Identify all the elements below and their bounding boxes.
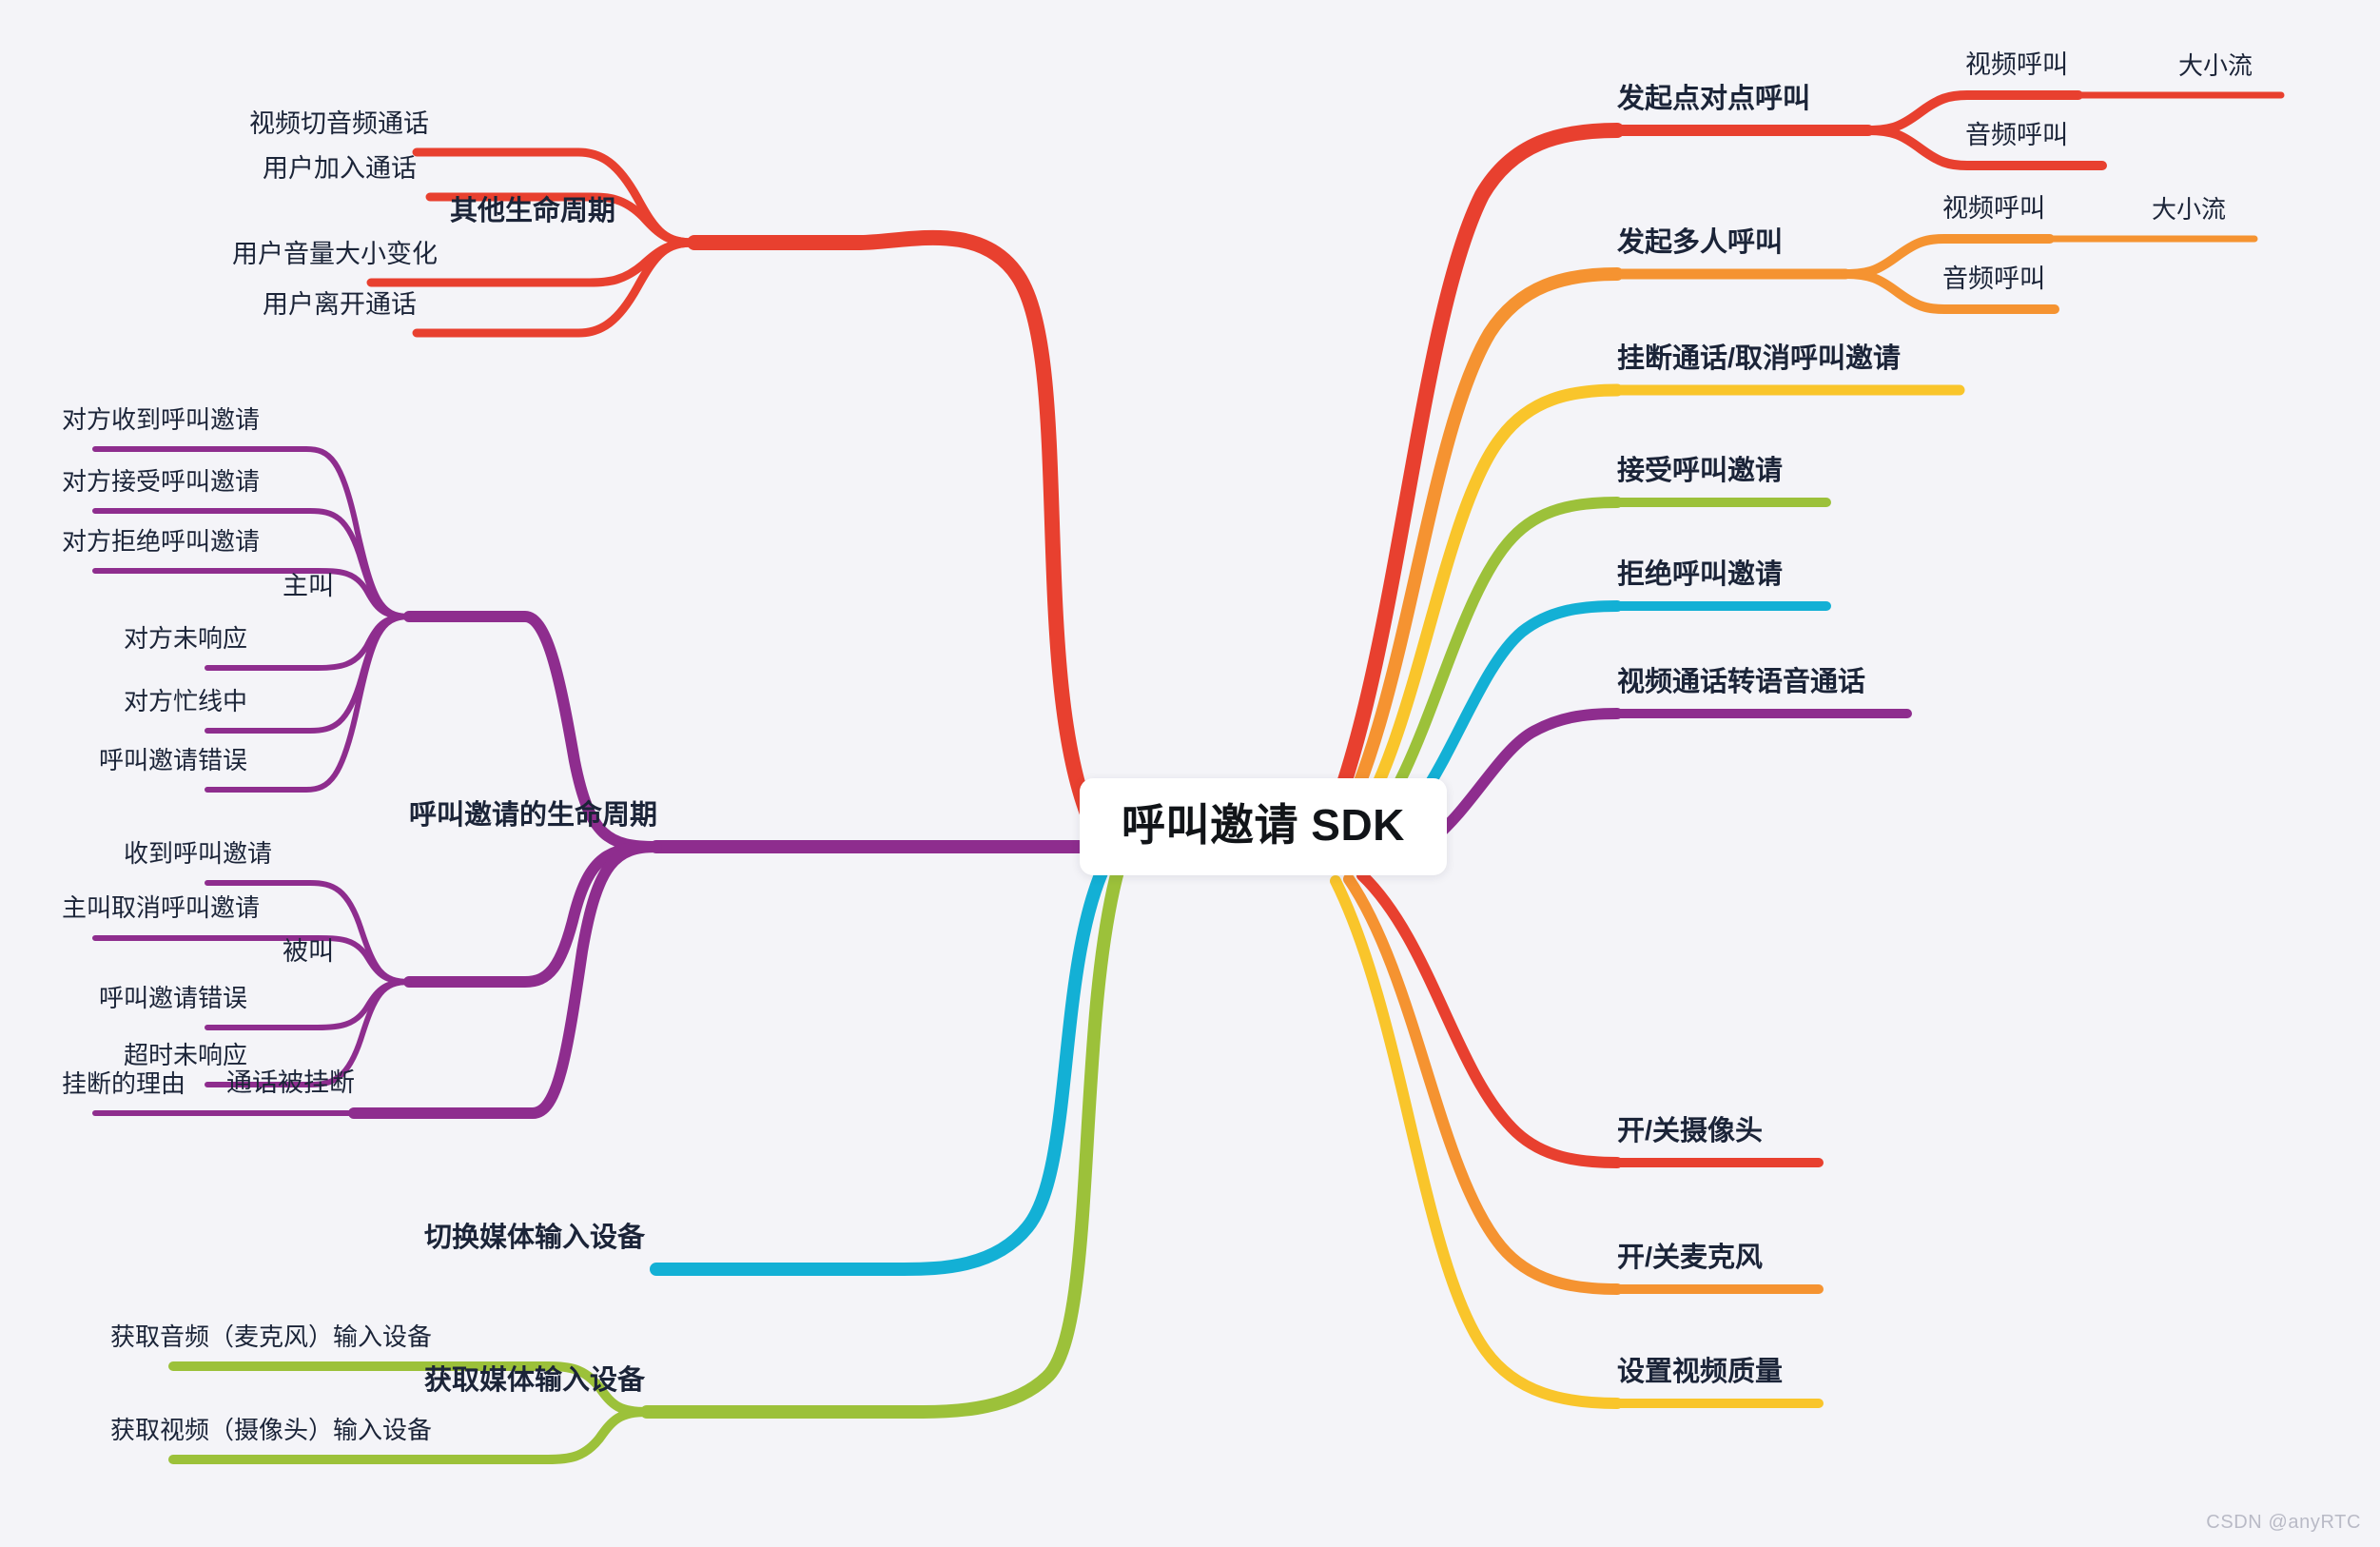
mindmap-connectors [0, 0, 2380, 1547]
node-video-to-voice[interactable]: 视频通话转语音通话 [1617, 669, 1865, 696]
link-caller-to-peer-rejected [95, 571, 409, 617]
node-peer-accepted-invite[interactable]: 对方接受呼叫邀请 [62, 469, 260, 494]
node-p2p-call[interactable]: 发起点对点呼叫 [1617, 86, 1810, 113]
node-multi-audio-call[interactable]: 音频呼叫 [1942, 266, 2045, 292]
node-toggle-microphone[interactable]: 开/关麦克风 [1617, 1244, 1763, 1272]
node-peer-rejected-invite[interactable]: 对方拒绝呼叫邀请 [62, 529, 260, 554]
node-caller-cancelled-invite[interactable]: 主叫取消呼叫邀请 [62, 895, 260, 920]
node-toggle-camera[interactable]: 开/关摄像头 [1617, 1118, 1763, 1146]
node-p2p-video-call[interactable]: 视频呼叫 [1965, 52, 2068, 78]
node-peer-received-invite[interactable]: 对方收到呼叫邀请 [62, 407, 260, 432]
node-caller[interactable]: 主叫 [283, 574, 334, 599]
node-peer-busy[interactable]: 对方忙线中 [124, 689, 247, 714]
link-root-to-hangup [1349, 390, 1617, 837]
node-accept-invite[interactable]: 接受呼叫邀请 [1617, 458, 1783, 485]
node-call-ended[interactable]: 通话被挂断 [226, 1070, 355, 1096]
node-invite-lifecycle[interactable]: 呼叫邀请的生命周期 [409, 802, 657, 830]
node-timeout-no-response[interactable]: 超时未响应 [124, 1043, 247, 1067]
node-hangup-reason[interactable]: 挂断的理由 [62, 1071, 185, 1096]
link-root-to-multi-call [1336, 274, 1617, 837]
node-get-media-device[interactable]: 获取媒体输入设备 [424, 1367, 645, 1395]
node-caller-invite-error[interactable]: 呼叫邀请错误 [99, 748, 247, 773]
node-multi-video-call[interactable]: 视频呼叫 [1942, 196, 2045, 222]
link-invite-lifecycle-to-call-ended [354, 847, 656, 1113]
link-invite-lifecycle-to-callee [409, 847, 656, 982]
node-callee-invite-error[interactable]: 呼叫邀请错误 [99, 986, 247, 1010]
node-peer-no-response[interactable]: 对方未响应 [124, 626, 247, 651]
link-root-to-p2p-call [1324, 130, 1617, 837]
node-hangup-cancel-invite[interactable]: 挂断通话/取消呼叫邀请 [1617, 345, 1901, 373]
node-reject-invite[interactable]: 拒绝呼叫邀请 [1617, 561, 1783, 589]
watermark: CSDN @anyRTC [2206, 1512, 2361, 1534]
node-switch-media-device[interactable]: 切换媒体输入设备 [424, 1224, 645, 1252]
link-callee-to-caller-cancelled [95, 938, 409, 982]
node-user-leave-call[interactable]: 用户离开通话 [263, 292, 417, 318]
root-node[interactable]: 呼叫邀请 SDK [1080, 778, 1447, 875]
link-root-to-switch-media-device [656, 864, 1105, 1269]
node-get-video-input-device[interactable]: 获取视频（摄像头）输入设备 [110, 1418, 432, 1442]
node-p2p-dual-stream[interactable]: 大小流 [2178, 53, 2253, 78]
node-callee[interactable]: 被叫 [283, 939, 334, 965]
node-user-volume-change[interactable]: 用户音量大小变化 [232, 242, 438, 267]
link-root-to-other-lifecycle [694, 238, 1094, 830]
link-root-to-get-media-device [647, 868, 1119, 1412]
node-multi-dual-stream[interactable]: 大小流 [2152, 197, 2226, 222]
node-received-invite[interactable]: 收到呼叫邀请 [124, 841, 272, 866]
node-video-switch-to-audio[interactable]: 视频切音频通话 [249, 111, 429, 137]
link-root-to-toggle-camera [1362, 875, 1617, 1163]
mindmap-canvas: 呼叫邀请 SDK 发起点对点呼叫 发起多人呼叫 挂断通话/取消呼叫邀请 接受呼叫… [0, 0, 2380, 1547]
node-multi-call[interactable]: 发起多人呼叫 [1617, 229, 1783, 257]
node-user-join-call[interactable]: 用户加入通话 [263, 156, 417, 182]
node-set-video-quality[interactable]: 设置视频质量 [1617, 1359, 1783, 1386]
link-root-to-video-quality [1336, 881, 1617, 1403]
link-root-to-toggle-mic [1349, 879, 1617, 1289]
node-get-audio-input-device[interactable]: 获取音频（麦克风）输入设备 [110, 1324, 432, 1349]
link-other-lifecycle-to-user-leave [417, 243, 694, 333]
node-p2p-audio-call[interactable]: 音频呼叫 [1965, 123, 2068, 148]
node-other-lifecycle[interactable]: 其他生命周期 [450, 198, 615, 225]
